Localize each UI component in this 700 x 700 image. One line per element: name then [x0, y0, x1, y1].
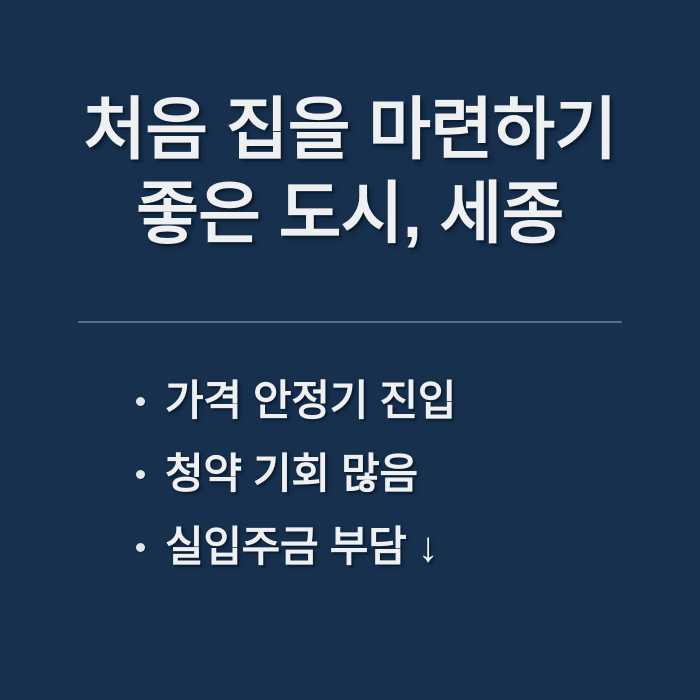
list-item: 가격 안정기 진입: [128, 364, 648, 437]
list-item-label: 실입주금 부담 ↓: [165, 521, 438, 573]
list-item-label: 청약 기회 많음: [165, 448, 418, 500]
list-item-label: 가격 안정기 진입: [165, 375, 456, 427]
bullet-dot-icon: [136, 543, 145, 552]
bullet-list: 가격 안정기 진입 청약 기회 많음 실입주금 부담 ↓: [128, 364, 648, 583]
title-line-1: 처음 집을 마련하기: [0, 88, 700, 172]
bullet-dot-icon: [136, 470, 145, 479]
info-card: 처음 집을 마련하기 좋은 도시, 세종 가격 안정기 진입 청약 기회 많음 …: [0, 0, 700, 700]
title-line-2: 좋은 도시, 세종: [0, 172, 700, 256]
list-item: 실입주금 부담 ↓: [128, 510, 648, 583]
list-item: 청약 기회 많음: [128, 437, 648, 510]
bullet-dot-icon: [136, 397, 145, 406]
horizontal-divider: [78, 321, 622, 323]
page-title: 처음 집을 마련하기 좋은 도시, 세종: [0, 88, 700, 256]
